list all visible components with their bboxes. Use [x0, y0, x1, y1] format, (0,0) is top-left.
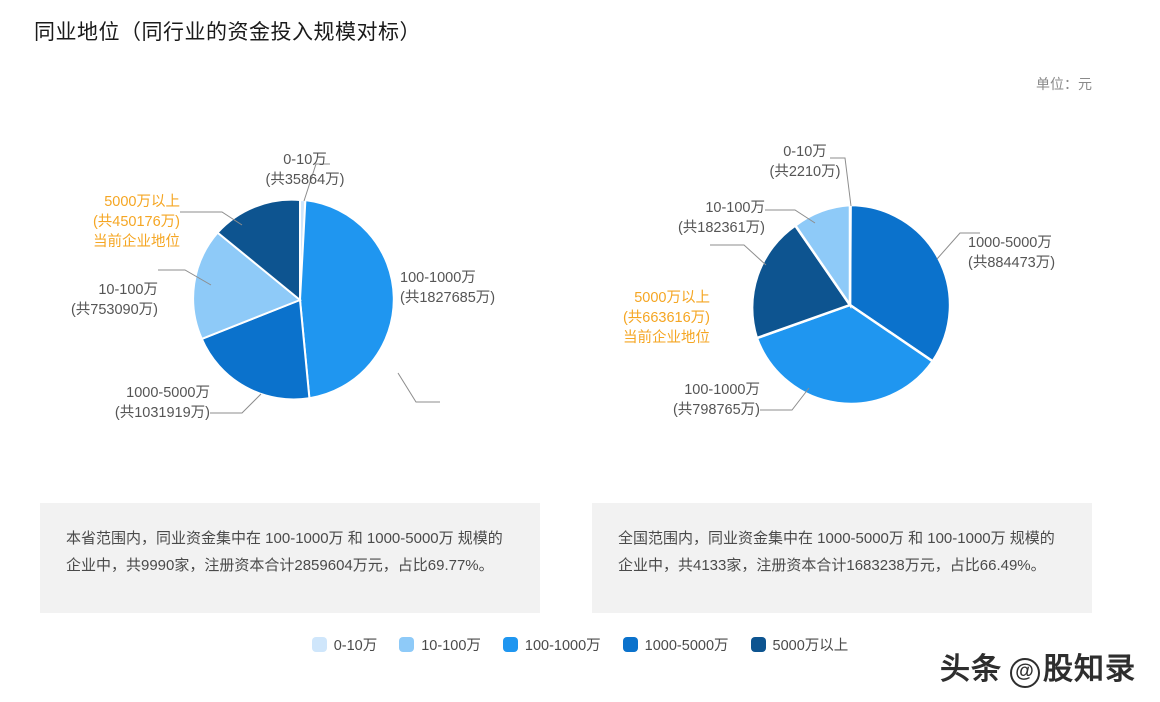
legend-label: 0-10万	[334, 634, 378, 655]
legend-swatch-icon	[399, 637, 414, 652]
pie-label-name: 0-10万	[730, 142, 880, 162]
legend-swatch-icon	[312, 637, 327, 652]
legend-label: 5000万以上	[773, 634, 849, 655]
pie-label-100-1000-province: 100-1000万 (共1827685万)	[400, 268, 580, 308]
pie-label-name: 100-1000万	[400, 268, 580, 288]
page-title: 同业地位（同行业的资金投入规模对标）	[34, 16, 421, 46]
legend-item-0-10[interactable]: 0-10万	[312, 634, 378, 655]
pie-label-name: 5000万以上	[580, 288, 710, 308]
pie-chart-province: 0-10万 (共35864万) 100-1000万 (共1827685万) 10…	[20, 120, 580, 480]
pie-label-current-position-note: 当前企业地位	[580, 328, 710, 348]
pie-label-amount: (共1827685万)	[400, 288, 580, 308]
legend-label: 1000-5000万	[645, 634, 729, 655]
pie-label-0-10-nationwide: 0-10万 (共2210万)	[730, 142, 880, 182]
pie-label-name: 0-10万	[220, 150, 390, 170]
pie-label-0-10-province: 0-10万 (共35864万)	[220, 150, 390, 190]
watermark-prefix: 头条	[940, 653, 1002, 686]
pie-label-name: 10-100万	[580, 198, 765, 218]
pie-label-amount: (共1031919万)	[20, 403, 210, 423]
summary-text-nationwide: 全国范围内，同业资金集中在 1000-5000万 和 100-1000万 规模的…	[618, 525, 1066, 579]
legend-item-5000-plus[interactable]: 5000万以上	[751, 634, 849, 655]
legend-swatch-icon	[623, 637, 638, 652]
pie-label-amount: (共450176万)	[20, 212, 180, 232]
summary-section: 本省范围内，同业资金集中在 100-1000万 和 1000-5000万 规模的…	[0, 503, 1160, 613]
pie-label-amount: (共663616万)	[580, 308, 710, 328]
charts-area: 0-10万 (共35864万) 100-1000万 (共1827685万) 10…	[0, 120, 1160, 480]
pie-slices-nationwide	[752, 205, 950, 404]
legend-item-100-1000[interactable]: 100-1000万	[503, 634, 601, 655]
pie-label-amount: (共2210万)	[730, 162, 880, 182]
legend-item-10-100[interactable]: 10-100万	[399, 634, 481, 655]
watermark: 头条@股知录	[940, 644, 1136, 688]
pie-label-5000-plus-province: 5000万以上 (共450176万) 当前企业地位	[20, 192, 180, 252]
summary-box-nationwide: 全国范围内，同业资金集中在 1000-5000万 和 100-1000万 规模的…	[592, 503, 1092, 613]
pie-label-amount: (共798765万)	[580, 400, 760, 420]
legend-swatch-icon	[751, 637, 766, 652]
pie-slice-100-1000[interactable]	[300, 200, 394, 398]
pie-label-1000-5000-province: 1000-5000万 (共1031919万)	[20, 383, 210, 423]
unit-label: 单位：元	[1036, 74, 1092, 94]
pie-label-name: 100-1000万	[580, 380, 760, 400]
legend-swatch-icon	[503, 637, 518, 652]
legend-label: 10-100万	[421, 634, 481, 655]
summary-box-province: 本省范围内，同业资金集中在 100-1000万 和 1000-5000万 规模的…	[40, 503, 540, 613]
watermark-name: 股知录	[1043, 653, 1136, 686]
pie-label-current-position-note: 当前企业地位	[20, 232, 180, 252]
pie-label-amount: (共753090万)	[20, 300, 158, 320]
legend-item-1000-5000[interactable]: 1000-5000万	[623, 634, 729, 655]
pie-label-amount: (共35864万)	[220, 170, 390, 190]
pie-label-100-1000-nationwide: 100-1000万 (共798765万)	[580, 380, 760, 420]
pie-slices-province	[193, 200, 394, 400]
summary-text-province: 本省范围内，同业资金集中在 100-1000万 和 1000-5000万 规模的…	[66, 525, 514, 579]
pie-label-10-100-province: 10-100万 (共753090万)	[20, 280, 158, 320]
pie-label-1000-5000-nationwide: 1000-5000万 (共884473万)	[968, 233, 1148, 273]
pie-label-amount: (共182361万)	[580, 218, 765, 238]
at-icon: @	[1010, 658, 1040, 688]
pie-label-5000-plus-nationwide: 5000万以上 (共663616万) 当前企业地位	[580, 288, 710, 348]
leader-line-5000-plus	[710, 245, 766, 265]
pie-label-name: 5000万以上	[20, 192, 180, 212]
pie-label-name: 10-100万	[20, 280, 158, 300]
pie-label-name: 1000-5000万	[968, 233, 1148, 253]
leader-line-1000-5000	[210, 394, 261, 413]
pie-label-amount: (共884473万)	[968, 253, 1148, 273]
pie-label-10-100-nationwide: 10-100万 (共182361万)	[580, 198, 765, 238]
leader-line-100-1000	[398, 373, 440, 402]
pie-label-name: 1000-5000万	[20, 383, 210, 403]
legend-label: 100-1000万	[525, 634, 601, 655]
pie-chart-nationwide: 0-10万 (共2210万) 1000-5000万 (共884473万) 100…	[580, 120, 1140, 480]
